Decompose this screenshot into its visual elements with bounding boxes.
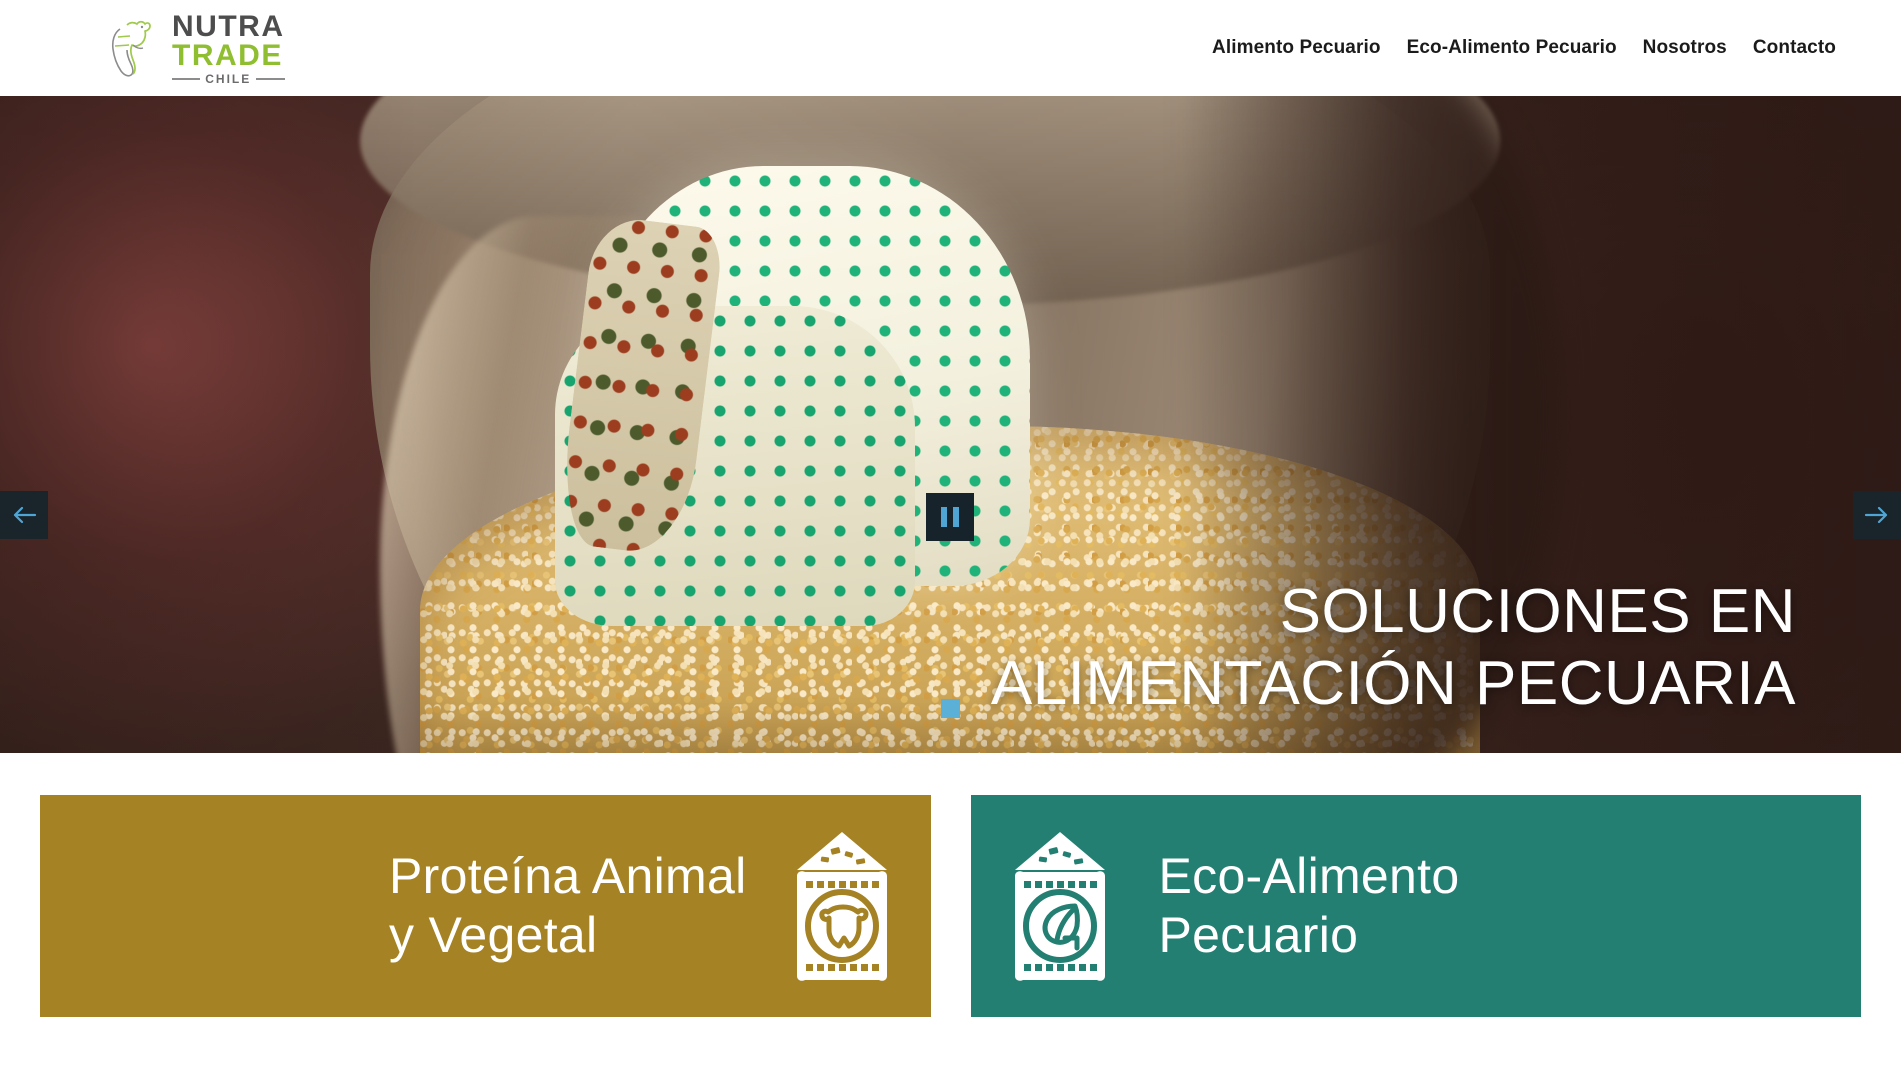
slider-pause-button[interactable]: [926, 493, 974, 541]
pause-icon-bar-right: [953, 507, 959, 527]
nav-item-eco-alimento-pecuario[interactable]: Eco-Alimento Pecuario: [1394, 37, 1630, 59]
slider-next-button[interactable]: [1853, 491, 1901, 539]
logo-text-nutra: NUTRA: [172, 12, 285, 42]
nav-item-alimento-pecuario[interactable]: Alimento Pecuario: [1199, 37, 1394, 59]
slider-dot-1[interactable]: [941, 699, 960, 718]
logo-rule-right: [256, 78, 284, 80]
cow-chile-map-icon: [100, 15, 166, 81]
site-logo[interactable]: NUTRA TRADE CHILE: [100, 12, 285, 84]
feed-sack-leaf-icon: [1005, 826, 1115, 986]
nav-item-contacto[interactable]: Contacto: [1740, 37, 1849, 59]
slider-prev-button[interactable]: [0, 491, 48, 539]
card-proteina-animal-y-vegetal[interactable]: Proteína Animal y Vegetal: [40, 795, 931, 1017]
category-cards: Proteína Animal y Vegetal: [0, 753, 1901, 1017]
slider-pagination: [0, 699, 1901, 718]
arrow-right-icon: [1864, 505, 1890, 525]
logo-rule-left: [172, 78, 200, 80]
hero-slider: SOLUCIONES EN ALIMENTACIÓN PECUARIA: [0, 96, 1901, 753]
logo-chile-row: CHILE: [172, 73, 285, 85]
logo-text-chile: CHILE: [205, 73, 251, 85]
card-eco-alimento-pecuario[interactable]: Eco-Alimento Pecuario: [971, 795, 1862, 1017]
logo-text-trade: TRADE: [172, 41, 285, 71]
page-bottom-spacer: [0, 1017, 1901, 1077]
feed-sack-cow-icon: [787, 826, 897, 986]
nav-item-nosotros[interactable]: Nosotros: [1630, 37, 1740, 59]
card-title-proteina: Proteína Animal y Vegetal: [389, 847, 746, 965]
card-title-eco: Eco-Alimento Pecuario: [1159, 847, 1460, 965]
arrow-left-icon: [11, 505, 37, 525]
pause-icon-bar-left: [941, 507, 947, 527]
main-navigation: Alimento Pecuario Eco-Alimento Pecuario …: [1199, 37, 1849, 59]
site-header: NUTRA TRADE CHILE Alimento Pecuario Eco-…: [0, 0, 1901, 96]
